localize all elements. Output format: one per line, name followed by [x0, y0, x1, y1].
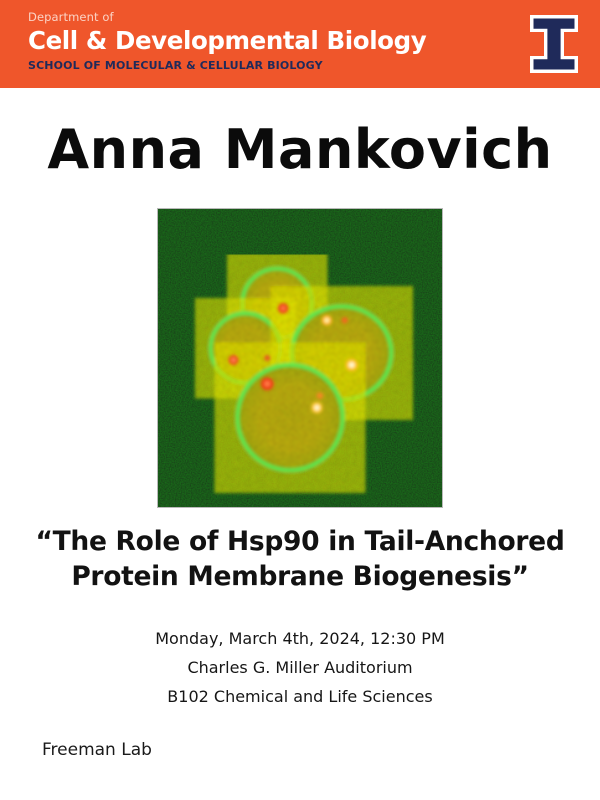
department-eyebrow: Department of: [28, 10, 426, 25]
talk-title: “The Role of Hsp90 in Tail-Anchored Prot…: [30, 524, 570, 594]
fluorescence-micrograph: [157, 208, 443, 508]
seminar-datetime: Monday, March 4th, 2024, 12:30 PM: [30, 624, 570, 653]
seminar-details: Monday, March 4th, 2024, 12:30 PM Charle…: [30, 624, 570, 711]
seminar-venue: Charles G. Miller Auditorium: [30, 653, 570, 682]
seminar-building: B102 Chemical and Life Sciences: [30, 682, 570, 711]
illinois-block-i-logo: [526, 11, 582, 77]
header-text-block: Department of Cell & Developmental Biolo…: [28, 10, 426, 73]
school-name: SCHOOL OF MOLECULAR & CELLULAR BIOLOGY: [28, 59, 426, 73]
talk-title-line-1: “The Role of Hsp90 in Tail-Anchored: [30, 524, 570, 559]
speaker-name: Anna Mankovich: [0, 118, 600, 182]
lab-name: Freeman Lab: [42, 738, 152, 762]
talk-title-line-2: Protein Membrane Biogenesis”: [30, 559, 570, 594]
department-name: Cell & Developmental Biology: [28, 26, 426, 56]
poster-header-band: Department of Cell & Developmental Biolo…: [0, 0, 600, 88]
